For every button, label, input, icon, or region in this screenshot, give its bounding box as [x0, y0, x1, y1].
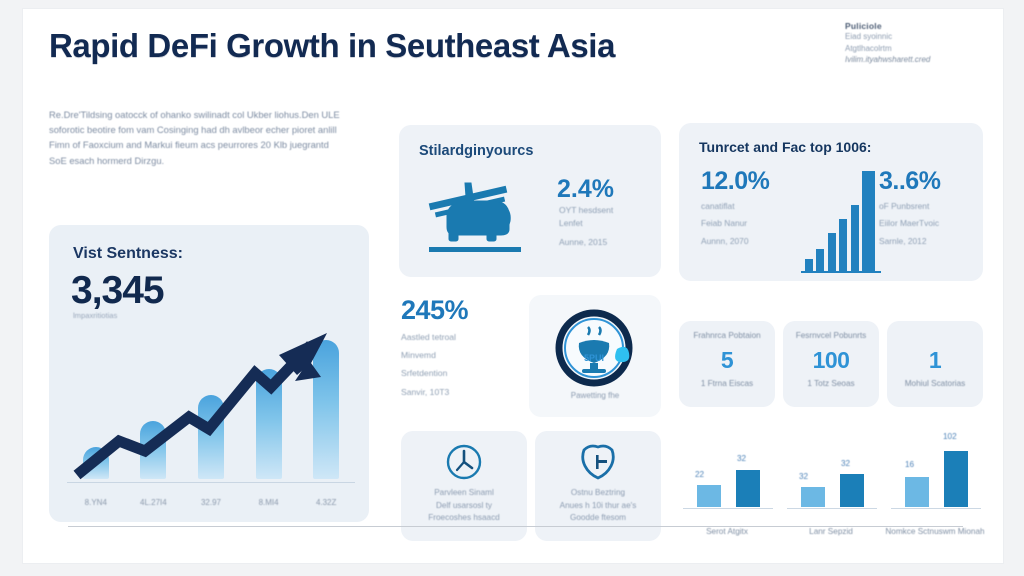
- clock-icon: [445, 443, 483, 481]
- mini-bar: [805, 259, 813, 271]
- mini-bar: [816, 249, 824, 271]
- shield-card-text: Ostnu Beztring Anues h 10i thur ae's Goo…: [543, 487, 653, 525]
- footer-divider: [68, 526, 963, 527]
- mini-bar: [828, 233, 836, 271]
- shield-line-1: Ostnu Beztring: [543, 487, 653, 500]
- bar-value: 32: [799, 472, 808, 481]
- stat-card-label: 1 Totz Seoas: [787, 379, 875, 388]
- mini-bar: [839, 219, 847, 271]
- chart-card-value: 3,345: [71, 269, 164, 313]
- x-axis-labels: 8.YN4 4L.27I4 32.97 8.MI4 4.32Z: [67, 498, 355, 507]
- upward-trend-arrow-icon: [59, 325, 359, 515]
- growth-date: Sanvir, 10T3: [401, 387, 527, 397]
- right-stat-date: Sarnle, 2012: [879, 236, 940, 246]
- meta-block: Puliciole Eiad syoinnic Atgtlhacolrtm Iv…: [845, 21, 993, 66]
- bar-value: 22: [695, 470, 704, 479]
- grouped-bar-chart: 22 32 Serot Atgitx 32 32 Lanr Sepzid: [679, 417, 991, 541]
- group-axis: [787, 508, 877, 509]
- bar-value: 16: [905, 460, 914, 469]
- stat-card-value: 1: [887, 347, 983, 374]
- badge-inner-text: 5PUl: [584, 353, 604, 363]
- mid-top-heading: Stilardginyourcs: [419, 143, 533, 159]
- intro-paragraph: Re.Dre'Tildsing oatocck of ohanko swilin…: [49, 107, 349, 168]
- growth-line-2: Minvemd: [401, 349, 527, 362]
- bar-group: 32 32 Lanr Sepzid: [783, 417, 879, 541]
- stat-card-title: Fesrnvcel Pobunrts: [789, 331, 873, 340]
- trend-plot: 8.YN4 4L.27I4 32.97 8.MI4 4.32Z: [59, 325, 359, 515]
- badge-card: 5PUl Pawetting fhe: [529, 295, 661, 417]
- right-stat-block: 3..6% oF Punbsrent Eiilor MaerTvoic Sarn…: [879, 167, 940, 246]
- stat-card-label: Mohiul Scatorias: [891, 379, 979, 388]
- clock-card-text: Parvleen Sinaml Delf usarsosl ty Froecos…: [409, 487, 519, 525]
- mini-bar-chart: [805, 171, 875, 271]
- chart-card-subtitle: lmpaxritiotias: [73, 311, 117, 320]
- bowl-badge-icon: 5PUl: [555, 309, 633, 387]
- chart-card-title: Vist Sentness:: [73, 245, 183, 263]
- right-stat-line-1: oF Punbsrent: [879, 200, 940, 213]
- stat-card: Fesrnvcel Pobunrts 100 1 Totz Seoas: [783, 321, 879, 407]
- infographic-poster: Rapid DeFi Growth in Seutheast Asia Puli…: [22, 8, 1004, 564]
- x-tick-label: 8.YN4: [73, 498, 119, 507]
- mini-bar: [851, 205, 859, 271]
- group-label: Nomkce Sctnuswm Mionah: [881, 526, 989, 537]
- x-tick-label: 8.MI4: [246, 498, 292, 507]
- x-tick-label: 4L.27I4: [130, 498, 176, 507]
- x-tick-label: 4.32Z: [303, 498, 349, 507]
- right-top-heading: Tunrcet and Fac top 1006:: [699, 139, 871, 155]
- clock-info-card: Parvleen Sinaml Delf usarsosl ty Froecos…: [401, 431, 527, 541]
- mini-bar: [862, 171, 875, 271]
- growth-percent-value: 245%: [401, 295, 527, 326]
- page-title: Rapid DeFi Growth in Seutheast Asia: [49, 27, 615, 65]
- mini-bar-axis: [801, 271, 881, 273]
- clock-line-1: Parvleen Sinaml: [409, 487, 519, 500]
- bar-group: 16 102 Nomkce Sctnuswm Mionah: [887, 417, 983, 541]
- shield-icon: [579, 443, 617, 481]
- stat-card-label: 1 Ftrna Eiscas: [683, 379, 771, 388]
- left-stat-line-1: canatiflat: [701, 200, 769, 213]
- shield-info-card: Ostnu Beztring Anues h 10i thur ae's Goo…: [535, 431, 661, 541]
- machinery-icon: [421, 177, 531, 257]
- meta-heading: Puliciole: [845, 21, 993, 31]
- mid-top-line-3: Aunne, 2015: [559, 237, 607, 247]
- mid-top-line-2: Lenfet: [559, 218, 583, 228]
- stat-card-value: 5: [679, 347, 775, 374]
- group-label: Serot Atgitx: [673, 526, 781, 537]
- badge-caption: Pawetting fhe: [529, 391, 661, 400]
- group-axis: [683, 508, 773, 509]
- left-stat-line-2: Feiab Nanur: [701, 217, 769, 230]
- trend-chart-card: Vist Sentness: 3,345 lmpaxritiotias 8.YN…: [49, 225, 369, 522]
- meta-line-1: Eiad syoinnic: [845, 31, 993, 43]
- bar-value: 32: [841, 459, 850, 468]
- bar-group: 22 32 Serot Atgitx: [679, 417, 775, 541]
- growth-line-3: Srfetdention: [401, 367, 527, 380]
- meta-line-3: Ivilim.ityahwsharett.cred: [845, 54, 993, 66]
- group-axis: [891, 508, 981, 509]
- growth-percent-block: 245% Aastled tetroal Minvemd Srfetdentio…: [401, 295, 527, 407]
- stat-card: 1 Mohiul Scatorias: [887, 321, 983, 407]
- left-stat-percent: 12.0%: [701, 167, 769, 196]
- growth-line-1: Aastled tetroal: [401, 331, 527, 344]
- bar-value: 102: [943, 432, 957, 441]
- mid-top-percent: 2.4%: [557, 175, 614, 204]
- meta-line-2: Atgtlhacolrtm: [845, 43, 993, 55]
- shield-line-2: Anues h 10i thur ae's: [543, 500, 653, 513]
- clock-line-3: Froecoshes hsaacd: [409, 512, 519, 525]
- x-tick-label: 32.97: [188, 498, 234, 507]
- bar-value: 32: [737, 454, 746, 463]
- stat-card-title: Frahnrca Pobtaion: [685, 331, 769, 340]
- group-label: Lanr Sepzid: [777, 526, 885, 537]
- mid-top-line-1: OYT hesdsent: [559, 205, 613, 215]
- stat-card: Frahnrca Pobtaion 5 1 Ftrna Eiscas: [679, 321, 775, 407]
- right-stat-percent: 3..6%: [879, 167, 940, 196]
- left-stat-block: 12.0% canatiflat Feiab Nanur Aunnn, 2070: [701, 167, 769, 246]
- machinery-stat-card: Stilardginyourcs 2.4% OYT hesdsent Lenfe…: [399, 125, 661, 277]
- right-stat-line-2: Eiilor MaerTvoic: [879, 217, 940, 230]
- left-stat-date: Aunnn, 2070: [701, 236, 769, 246]
- market-stats-card: Tunrcet and Fac top 1006: 12.0% canatifl…: [679, 123, 983, 281]
- shield-line-3: Goodde ftesom: [543, 512, 653, 525]
- stat-card-value: 100: [783, 347, 879, 374]
- clock-line-2: Delf usarsosl ty: [409, 500, 519, 513]
